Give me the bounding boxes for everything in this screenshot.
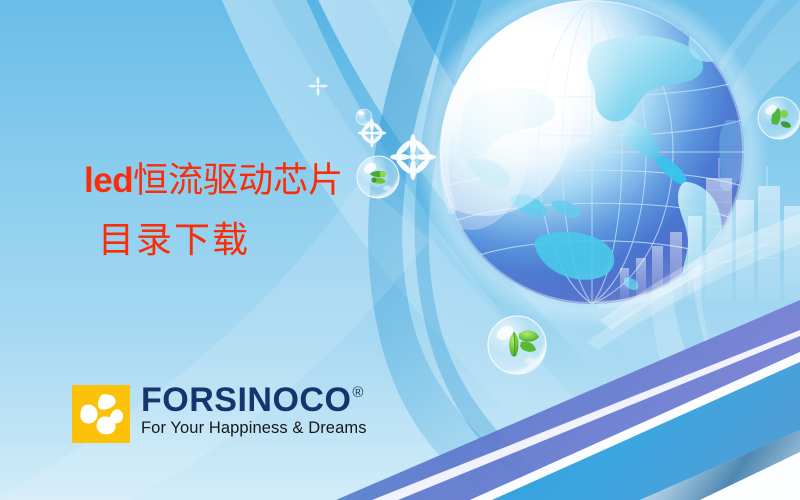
brand-name: FORSINOCO — [141, 385, 351, 416]
bubble-globe-small-icon — [758, 97, 800, 139]
bubble-small-icon — [356, 109, 372, 125]
four-petal-pinwheel-icon — [72, 385, 130, 443]
bubble-globe-icon — [357, 156, 399, 198]
brand-name-row: FORSINOCO ® — [141, 385, 367, 416]
brand-tagline: For Your Happiness & Dreams — [141, 419, 367, 438]
bubble-leaf-icon — [488, 316, 546, 374]
poster-canvas: led恒流驱动芯片 目录下载 FORSINOCO ® For Your Happ… — [0, 0, 800, 500]
brand-text: FORSINOCO ® For Your Happiness & Dreams — [141, 385, 367, 438]
registered-trademark-icon: ® — [352, 386, 363, 400]
brand-logo: FORSINOCO ® For Your Happiness & Dreams — [72, 385, 367, 443]
